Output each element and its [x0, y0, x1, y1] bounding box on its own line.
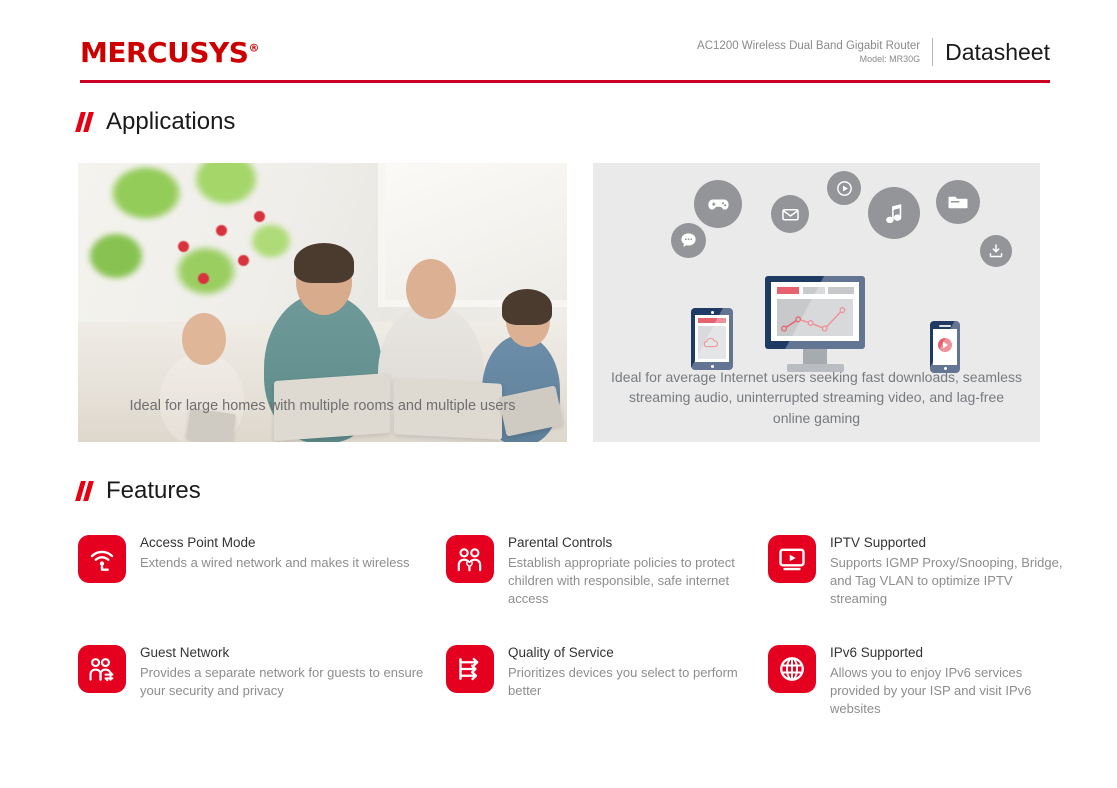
double-slash-icon	[78, 481, 97, 501]
download-icon	[980, 235, 1012, 267]
page-header: MERCUSYS® AC1200 Wireless Dual Band Giga…	[80, 36, 1050, 76]
features-heading: Features	[78, 477, 201, 505]
feature-title: Guest Network	[140, 644, 446, 662]
illustration-caption: Ideal for average Internet users seeking…	[611, 367, 1022, 428]
mercusys-logo: MERCUSYS®	[80, 36, 259, 69]
wifi-access-point-icon	[78, 535, 126, 583]
feature-item: IPTV Supported Supports IGMP Proxy/Snoop…	[768, 533, 1068, 607]
double-slash-icon	[78, 112, 97, 132]
features-row: Access Point Mode Extends a wired networ…	[78, 533, 1068, 607]
registered-mark: ®	[248, 42, 259, 55]
feature-item: Quality of Service Prioritizes devices y…	[446, 643, 768, 717]
feature-item: Access Point Mode Extends a wired networ…	[78, 533, 446, 607]
gamepad-icon	[694, 180, 742, 228]
applications-photo-panel: Ideal for large homes with multiple room…	[78, 163, 567, 442]
header-product-info: AC1200 Wireless Dual Band Gigabit Router…	[697, 38, 1050, 66]
logo-text: MERCUSYS	[80, 36, 248, 69]
model-number: Model: MR30G	[697, 54, 920, 65]
feature-text: IPv6 Supported Allows you to enjoy IPv6 …	[830, 643, 1068, 717]
header-rule	[80, 80, 1050, 83]
features-row: Guest Network Provides a separate networ…	[78, 643, 1068, 717]
product-name: AC1200 Wireless Dual Band Gigabit Router	[697, 39, 920, 53]
applications-heading-label: Applications	[106, 108, 235, 136]
feature-item: Guest Network Provides a separate networ…	[78, 643, 446, 717]
feature-description: Prioritizes devices you select to perfor…	[508, 664, 768, 699]
feature-text: Guest Network Provides a separate networ…	[140, 643, 446, 700]
feature-item: IPv6 Supported Allows you to enjoy IPv6 …	[768, 643, 1068, 717]
folder-icon	[936, 180, 980, 224]
feature-title: IPv6 Supported	[830, 644, 1068, 662]
model-block: AC1200 Wireless Dual Band Gigabit Router…	[697, 39, 920, 65]
guest-network-icon	[78, 645, 126, 693]
header-divider	[932, 38, 933, 66]
music-note-icon	[868, 187, 920, 239]
feature-description: Provides a separate network for guests t…	[140, 664, 446, 699]
feature-description: Allows you to enjoy IPv6 services provid…	[830, 664, 1068, 717]
feature-description: Establish appropriate policies to protec…	[508, 554, 768, 607]
feature-text: Access Point Mode Extends a wired networ…	[140, 533, 410, 572]
feature-item: Parental Controls Establish appropriate …	[446, 533, 768, 607]
feature-description: Supports IGMP Proxy/Snooping, Bridge, an…	[830, 554, 1068, 607]
features-heading-label: Features	[106, 477, 201, 505]
chat-bubble-icon	[671, 223, 706, 258]
feature-title: Access Point Mode	[140, 534, 410, 552]
applications-illustration-panel: Ideal for average Internet users seeking…	[593, 163, 1040, 442]
device-ecosystem-illustration	[593, 163, 1040, 373]
desktop-monitor-device	[765, 276, 865, 372]
envelope-icon	[771, 195, 809, 233]
document-type: Datasheet	[945, 39, 1050, 66]
feature-title: Parental Controls	[508, 534, 768, 552]
feature-text: Quality of Service Prioritizes devices y…	[508, 643, 768, 700]
features-grid: Access Point Mode Extends a wired networ…	[78, 533, 1068, 717]
globe-icon	[768, 645, 816, 693]
qos-arrows-icon	[446, 645, 494, 693]
iptv-monitor-icon	[768, 535, 816, 583]
applications-heading: Applications	[78, 108, 235, 136]
play-circle-icon	[827, 171, 861, 205]
feature-text: Parental Controls Establish appropriate …	[508, 533, 768, 607]
parental-controls-icon	[446, 535, 494, 583]
datasheet-page: MERCUSYS® AC1200 Wireless Dual Band Giga…	[0, 0, 1117, 788]
feature-text: IPTV Supported Supports IGMP Proxy/Snoop…	[830, 533, 1068, 607]
feature-title: IPTV Supported	[830, 534, 1068, 552]
feature-description: Extends a wired network and makes it wir…	[140, 554, 410, 572]
feature-title: Quality of Service	[508, 644, 768, 662]
photo-caption: Ideal for large homes with multiple room…	[78, 398, 567, 414]
